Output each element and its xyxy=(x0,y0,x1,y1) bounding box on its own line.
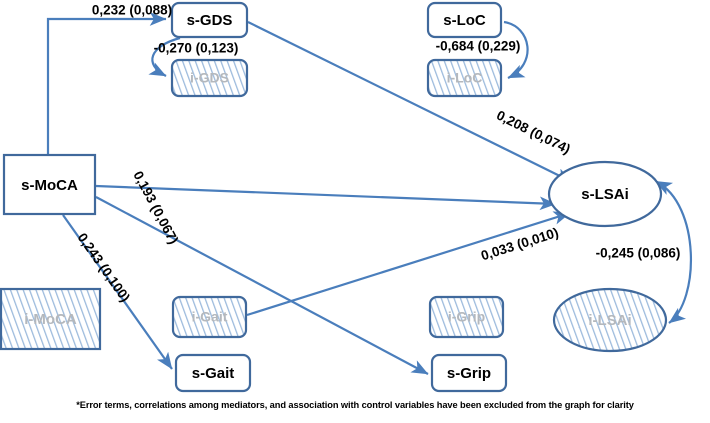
node-label-s-loc: s-LoC xyxy=(443,12,486,29)
node-s-grip[interactable]: s-Grip xyxy=(432,355,506,391)
edge-moca-to-lsai xyxy=(96,186,556,204)
node-i-gds[interactable]: i-GDS xyxy=(172,60,247,96)
node-label-s-lsai: s-LSAi xyxy=(581,186,629,203)
node-s-moca[interactable]: s-MoCA xyxy=(4,155,95,214)
node-i-lsai[interactable]: i-LSAi xyxy=(554,289,666,351)
node-s-gds[interactable]: s-GDS xyxy=(172,3,247,37)
edge-label-gait-lsai: 0,033 (0,010) xyxy=(479,225,560,263)
node-i-moca[interactable]: i-MoCA xyxy=(1,289,100,349)
node-label-i-loc: i-LoC xyxy=(447,70,483,86)
node-label-i-moca: i-MoCA xyxy=(24,311,77,328)
edge-label-loc-iloc: -0,684 (0,229) xyxy=(436,39,521,54)
node-i-gait[interactable]: i-Gait xyxy=(173,297,246,337)
edge-label-moca-lsai: 0,193 (0,067) xyxy=(130,169,181,247)
edge-igait-to-lsai xyxy=(247,213,570,315)
edge-label-moca-gds: 0,232 (0,088) xyxy=(92,3,172,18)
figure-footnote: *Error terms, correlations among mediato… xyxy=(0,400,710,410)
edge-gds-to-lsai xyxy=(248,22,572,182)
node-label-i-lsai: i-LSAi xyxy=(588,312,631,329)
edge-label-gds-igds: -0,270 (0,123) xyxy=(154,41,239,56)
node-label-s-grip: s-Grip xyxy=(447,365,491,382)
diagram-canvas: s-GDS i-GDS s-LoC i-LoC s-MoCA xyxy=(0,0,710,423)
node-label-i-gait: i-Gait xyxy=(192,309,228,325)
sem-path-diagram: s-GDS i-GDS s-LoC i-LoC s-MoCA xyxy=(0,0,710,423)
edge-label-lsai-ilsai: -0,245 (0,086) xyxy=(596,246,681,261)
node-label-i-grip: i-Grip xyxy=(448,309,485,325)
node-s-gait[interactable]: s-Gait xyxy=(176,355,250,391)
node-i-loc[interactable]: i-LoC xyxy=(428,60,501,96)
node-layer: s-GDS i-GDS s-LoC i-LoC s-MoCA xyxy=(1,3,666,391)
edge-moca-to-grip xyxy=(96,197,428,374)
node-label-s-moca: s-MoCA xyxy=(21,177,78,194)
node-s-lsai[interactable]: s-LSAi xyxy=(549,162,661,226)
node-i-grip[interactable]: i-Grip xyxy=(430,297,503,337)
edge-label-layer: 0,232 (0,088) -0,270 (0,123) -0,684 (0,2… xyxy=(75,3,681,305)
node-s-loc[interactable]: s-LoC xyxy=(428,3,501,37)
edge-moca-to-gds xyxy=(48,19,166,155)
node-label-s-gait: s-Gait xyxy=(192,365,235,382)
node-label-i-gds: i-GDS xyxy=(190,70,229,86)
node-label-s-gds: s-GDS xyxy=(187,12,233,29)
